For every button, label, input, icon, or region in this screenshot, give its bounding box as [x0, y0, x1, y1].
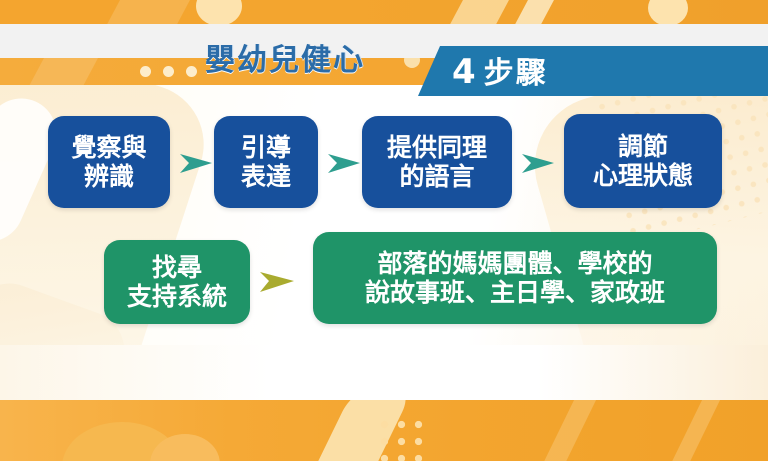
step-box-5[interactable]: 找尋 支持系統 [104, 240, 250, 324]
steps-count: 4 [452, 52, 484, 92]
step-6-line-1: 部落的媽媽團體、學校的 [377, 249, 652, 278]
step-2-line-1: 引導 [241, 133, 291, 162]
step-box-4[interactable]: 調節 心理狀態 [564, 114, 722, 208]
header-title-bar: 嬰幼兒健心 4步驟 [0, 24, 768, 72]
infographic-slide: 嬰幼兒健心 4步驟 覺察與 辨識 引導 表達 提供同理 的語言 調節 心理狀態 … [0, 0, 768, 461]
step-6-line-2: 說故事班、主日學、家政班 [365, 278, 665, 307]
bottom-dot-pattern [376, 416, 424, 461]
bottom-orange-band [0, 400, 768, 461]
arrow-right-icon-1 [178, 148, 218, 180]
steps-banner-text: 4步驟 [452, 50, 548, 96]
step-3-line-2: 的語言 [399, 162, 474, 191]
top-orange-band [0, 0, 768, 26]
step-1-line-2: 辨識 [84, 162, 134, 191]
arrow-right-icon-4 [258, 265, 300, 299]
step-5-line-1: 找尋 [152, 253, 202, 282]
arrow-right-icon-3 [520, 148, 560, 180]
steps-label: 步驟 [484, 56, 548, 91]
step-box-1[interactable]: 覺察與 辨識 [48, 116, 170, 208]
step-4-line-2: 心理狀態 [593, 161, 693, 190]
step-2-line-2: 表達 [241, 162, 291, 191]
page-title: 嬰幼兒健心 [205, 46, 365, 76]
step-box-6[interactable]: 部落的媽媽團體、學校的 說故事班、主日學、家政班 [313, 232, 717, 324]
step-1-line-1: 覺察與 [71, 133, 146, 162]
arrow-right-icon-2 [326, 148, 366, 180]
step-5-line-2: 支持系統 [127, 282, 227, 311]
step-box-2[interactable]: 引導 表達 [214, 116, 318, 208]
step-3-line-1: 提供同理 [387, 133, 487, 162]
bottom-soft-band [0, 345, 768, 400]
step-box-3[interactable]: 提供同理 的語言 [362, 116, 512, 208]
step-4-line-1: 調節 [618, 132, 668, 161]
